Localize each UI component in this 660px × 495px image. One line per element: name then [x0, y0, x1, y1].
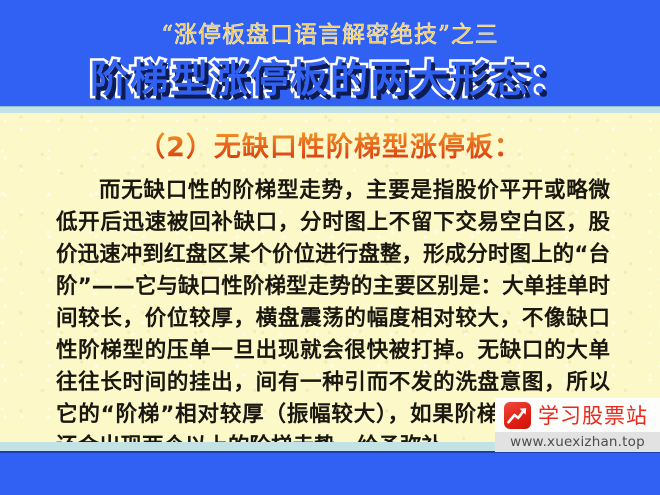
slide-footer — [0, 453, 660, 495]
series-eyebrow-title: “涨停板盘口语言解密绝技”之三 — [0, 20, 660, 50]
site-watermark[interactable]: 学习股票站 www.xuexizhan.top — [495, 398, 660, 452]
watermark-brand-row: 学习股票站 — [495, 398, 660, 432]
slide-header: “涨停板盘口语言解密绝技”之三 阶梯型涨停板的两大形态： — [0, 0, 660, 106]
watermark-url-bar: www.xuexizhan.top — [495, 432, 660, 452]
slide-content-panel: （2）无缺口性阶梯型涨停板： 而无缺口性的阶梯型走势，主要是指股价平开或略微低开… — [0, 113, 660, 442]
section-subtitle: （2）无缺口性阶梯型涨停板： — [0, 130, 660, 166]
watermark-url: www.xuexizhan.top — [510, 434, 645, 450]
slide-main-title: 阶梯型涨停板的两大形态： — [0, 56, 660, 102]
watermark-site-name: 学习股票站 — [538, 400, 648, 430]
presentation-slide: “涨停板盘口语言解密绝技”之三 阶梯型涨停板的两大形态： （2）无缺口性阶梯型涨… — [0, 0, 660, 495]
trend-up-icon — [504, 402, 531, 429]
